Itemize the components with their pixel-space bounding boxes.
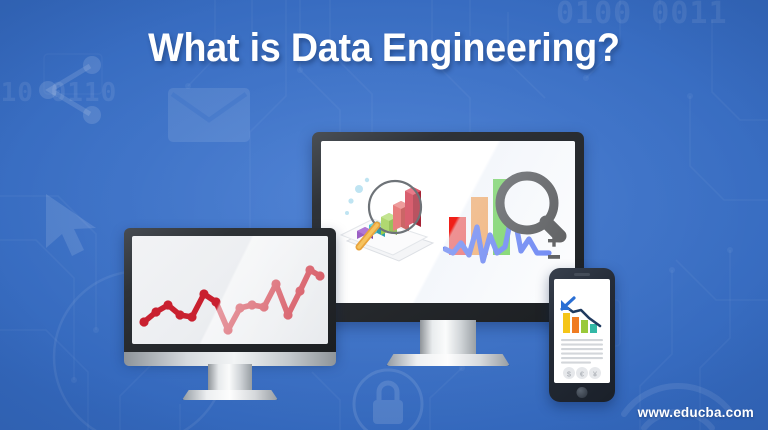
phone-bar-chart	[563, 313, 597, 333]
phone-up-arrow-icon	[561, 298, 574, 310]
red-line-chart	[132, 236, 328, 344]
phone-currency-icons: $ € ¥	[563, 367, 601, 379]
site-url-watermark: www.educba.com	[638, 405, 754, 420]
left-monitor	[124, 228, 336, 400]
left-monitor-screen	[132, 236, 328, 344]
isometric-bar-chart-illustration	[337, 169, 445, 265]
desktop-monitor-base	[386, 354, 510, 366]
smartphone: $ € ¥	[549, 268, 615, 402]
desktop-monitor-screen	[321, 141, 575, 303]
desktop-monitor	[312, 132, 584, 378]
phone-body: $ € ¥	[549, 268, 615, 402]
magnifying-glass-icon	[500, 176, 560, 236]
phone-text-lines	[561, 339, 603, 364]
page-title: What is Data Engineering?	[23, 26, 745, 71]
left-monitor-base	[182, 390, 278, 400]
desktop-monitor-bezel	[312, 132, 584, 322]
phone-dashboard: $ € ¥	[554, 279, 610, 383]
phone-screen: $ € ¥	[554, 279, 610, 383]
desktop-monitor-neck	[420, 320, 476, 358]
left-monitor-neck	[208, 364, 252, 394]
poster-canvas: 0100 0011 010 0110 What is Data Engineer…	[0, 0, 768, 430]
phone-home-button[interactable]	[577, 387, 588, 398]
red-trend-line	[144, 270, 320, 330]
bar-line-magnifier-illustration	[443, 165, 571, 275]
left-monitor-bezel	[124, 228, 336, 360]
phone-speaker	[574, 273, 590, 276]
